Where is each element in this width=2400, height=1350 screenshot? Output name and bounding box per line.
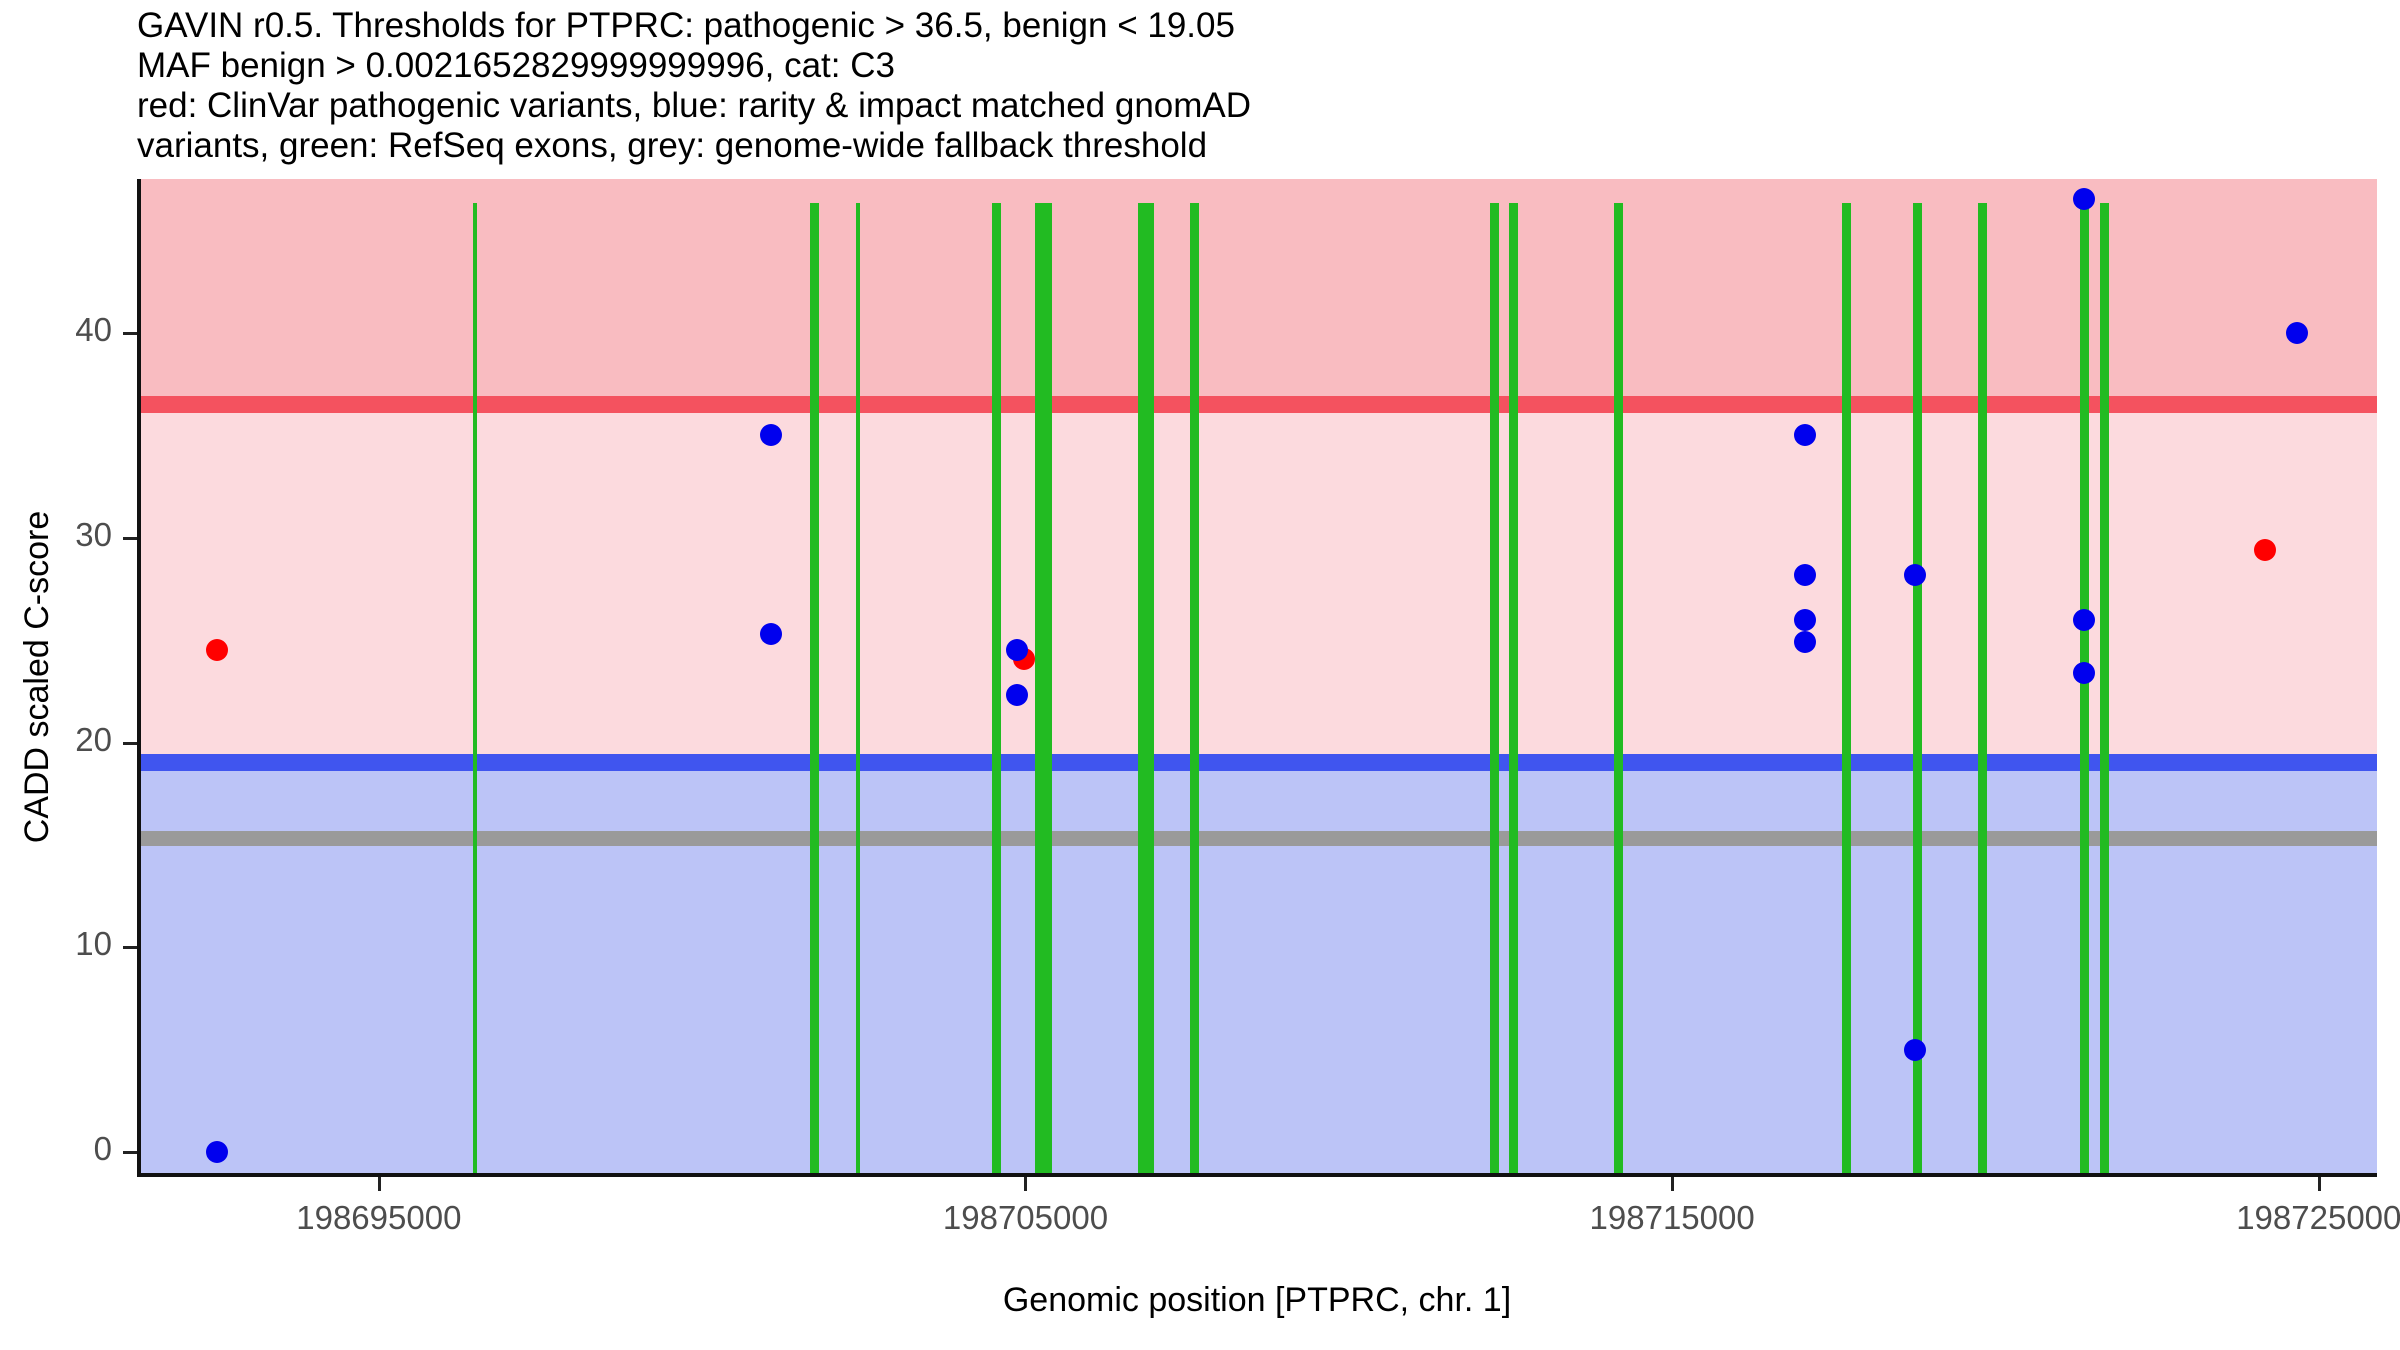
refseq-exon-line	[992, 203, 1001, 1173]
x-axis-tick	[1024, 1177, 1027, 1191]
x-axis-tick-label: 198715000	[1512, 1199, 1832, 1237]
refseq-exon-line	[2100, 203, 2109, 1173]
x-axis-tick-label: 198705000	[865, 1199, 1185, 1237]
refseq-exon-line	[1490, 203, 1499, 1173]
y-axis-tick-label: 40	[0, 311, 112, 349]
refseq-exon-line	[1614, 203, 1623, 1173]
gnomad-variant-point	[2073, 188, 2095, 210]
refseq-exon-line	[1043, 203, 1052, 1173]
x-axis-tick	[1671, 1177, 1674, 1191]
page-title: GAVIN r0.5. Thresholds for PTPRC: pathog…	[137, 6, 2237, 166]
refseq-exon-line	[1190, 203, 1199, 1173]
y-axis-tick	[123, 332, 137, 335]
x-axis-tick-label: 198725000	[2159, 1199, 2400, 1237]
plot-area	[141, 179, 2377, 1173]
title-line-2: MAF benign > 0.0021652829999999996, cat:…	[137, 46, 2237, 86]
refseq-exon-line	[1842, 203, 1851, 1173]
refseq-exon-line	[810, 203, 819, 1173]
gnomad-variant-point	[1794, 609, 1816, 631]
y-axis-tick	[123, 1151, 137, 1154]
refseq-exon-line	[1913, 203, 1922, 1173]
refseq-exon-line	[2080, 203, 2089, 1173]
clinvar-pathogenic-point	[2254, 539, 2276, 561]
title-line-3: red: ClinVar pathogenic variants, blue: …	[137, 86, 2237, 126]
refseq-exon-line	[1509, 203, 1518, 1173]
y-axis-tick	[123, 537, 137, 540]
y-axis-tick	[123, 742, 137, 745]
gnomad-variant-point	[1006, 639, 1028, 661]
y-axis-tick-label: 30	[0, 516, 112, 554]
gnomad-variant-point	[1006, 684, 1028, 706]
gnomad-variant-point	[1794, 564, 1816, 586]
refseq-exon-line	[473, 203, 477, 1173]
x-axis-tick	[2318, 1177, 2321, 1191]
y-axis-tick	[123, 946, 137, 949]
y-axis-tick-label: 10	[0, 925, 112, 963]
x-axis-title: Genomic position [PTPRC, chr. 1]	[137, 1281, 2377, 1320]
gnomad-variant-point	[1904, 564, 1926, 586]
x-axis-tick-label: 198695000	[219, 1199, 539, 1237]
gnomad-variant-point	[2073, 609, 2095, 631]
refseq-exon-line	[856, 203, 860, 1173]
title-line-1: GAVIN r0.5. Thresholds for PTPRC: pathog…	[137, 6, 2237, 46]
plot-panel	[137, 179, 2377, 1177]
refseq-exon-line	[1978, 203, 1987, 1173]
x-axis-tick	[378, 1177, 381, 1191]
gnomad-variant-point	[2286, 322, 2308, 344]
refseq-exon-line	[1145, 203, 1154, 1173]
gnomad-variant-point	[760, 424, 782, 446]
gnomad-variant-point	[2073, 662, 2095, 684]
plot-canvas: GAVIN r0.5. Thresholds for PTPRC: pathog…	[0, 0, 2400, 1350]
y-axis-tick-label: 20	[0, 721, 112, 759]
y-axis-tick-label: 0	[0, 1130, 112, 1168]
title-line-4: variants, green: RefSeq exons, grey: gen…	[137, 126, 2237, 166]
gnomad-variant-point	[760, 623, 782, 645]
